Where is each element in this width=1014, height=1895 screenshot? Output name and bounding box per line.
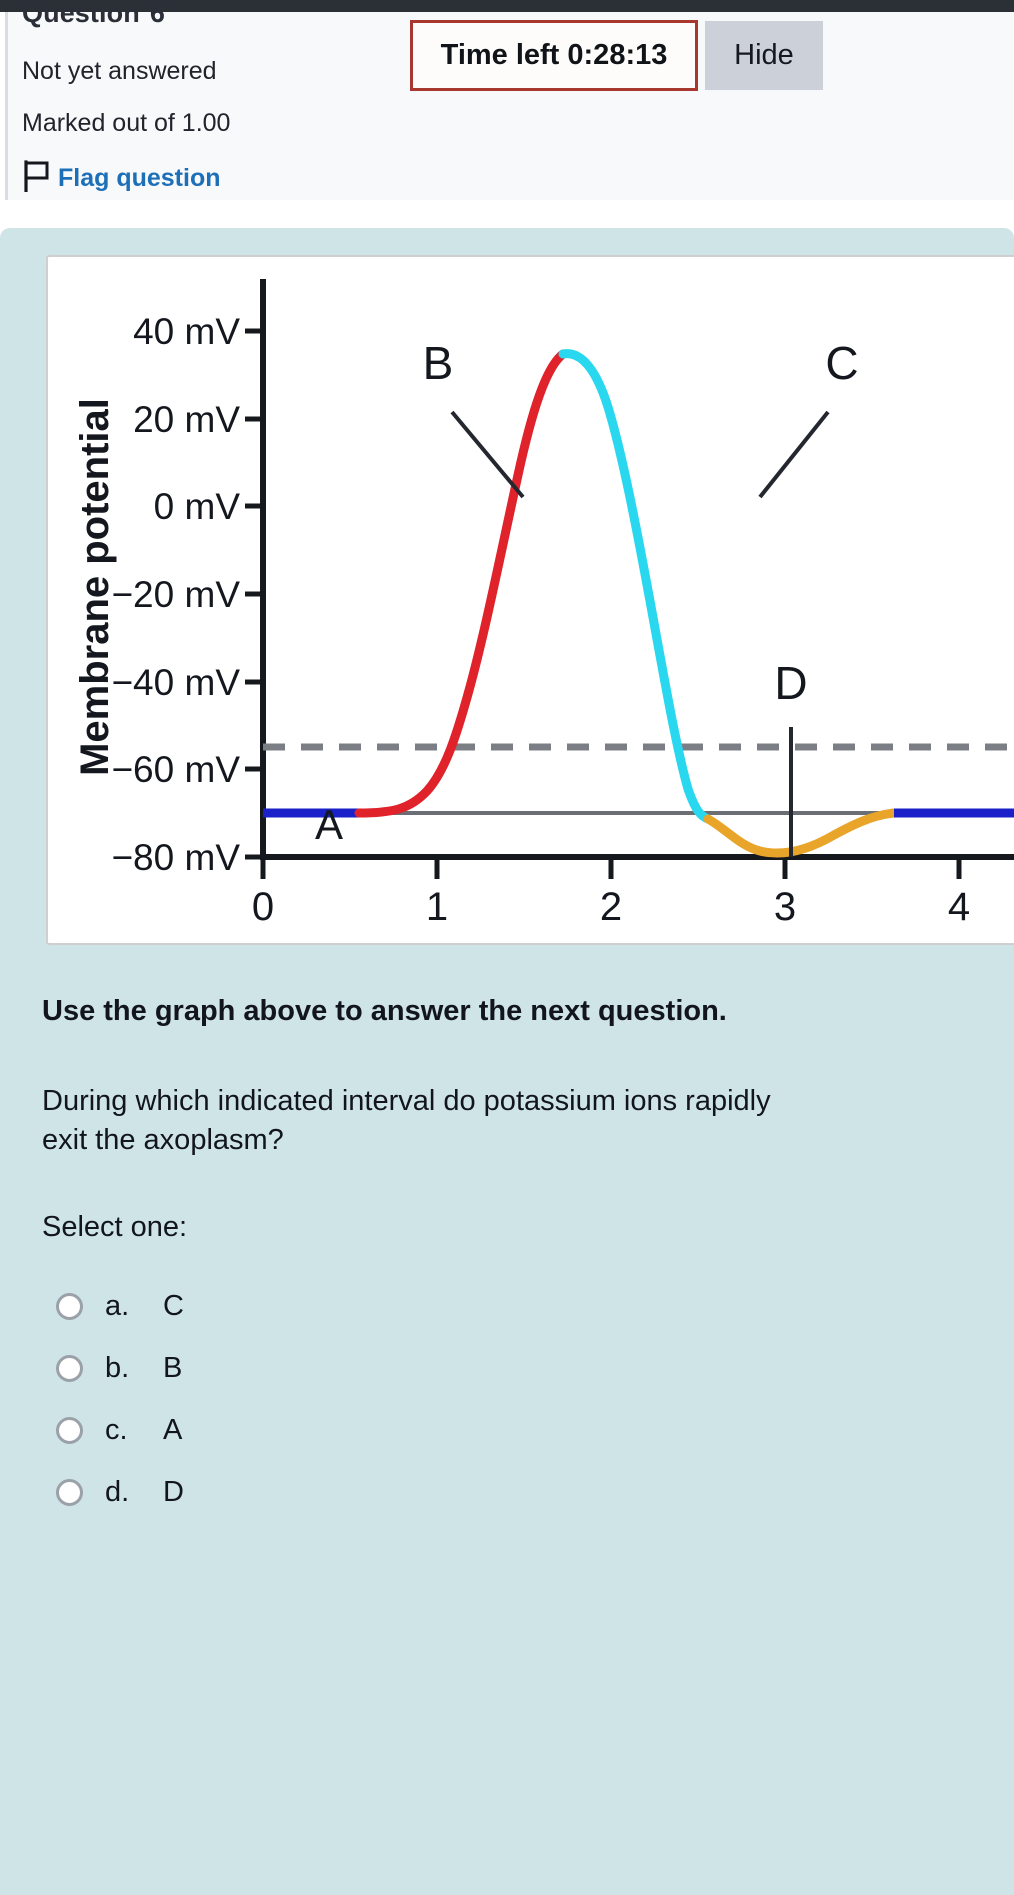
select-one-label: Select one: [42, 1211, 187, 1244]
question-marks: Marked out of 1.00 [22, 109, 230, 138]
chart-annotation-labels: A B C D [315, 337, 859, 848]
y-tick-label: −20 mV [111, 574, 240, 615]
x-tick-label: 1 [426, 885, 448, 929]
x-tick-label: 4 [948, 885, 970, 929]
radio-button-a[interactable] [56, 1293, 83, 1320]
option-letter-c: c. [105, 1414, 163, 1447]
hide-button-label: Hide [734, 39, 794, 72]
x-axis-tick-labels: 0 1 2 3 4 [252, 885, 970, 929]
x-tick-label: 0 [252, 885, 274, 929]
curve-segment-D-hyperpolarization [708, 813, 894, 853]
y-tick-label: 0 mV [154, 486, 241, 527]
leader-line-C [760, 412, 828, 497]
quiz-page: Question6 Not yet answered Marked out of… [0, 0, 1014, 1895]
option-row-a[interactable]: a. C [56, 1275, 556, 1337]
question-text: During which indicated interval do potas… [42, 1082, 802, 1160]
annotation-label-C: C [825, 337, 858, 389]
flag-question-link[interactable]: Flag question [22, 160, 221, 197]
option-value-a: C [163, 1290, 184, 1323]
option-letter-a: a. [105, 1290, 163, 1323]
question-state: Not yet answered [22, 57, 217, 86]
option-value-b: B [163, 1352, 182, 1385]
prompt-bold-line: Use the graph above to answer the next q… [42, 993, 742, 1031]
question-title-label: Question [22, 0, 140, 28]
question-number: 6 [150, 0, 165, 29]
radio-button-d[interactable] [56, 1479, 83, 1506]
option-value-d: D [163, 1476, 184, 1509]
annotation-label-B: B [423, 337, 454, 389]
x-tick-label: 3 [774, 885, 796, 929]
y-tick-label: −60 mV [111, 749, 240, 790]
option-row-c[interactable]: c. A [56, 1399, 556, 1461]
option-letter-d: d. [105, 1476, 163, 1509]
action-potential-chart: 40 mV 20 mV 0 mV −20 mV −40 mV −60 mV −8… [48, 257, 1014, 945]
timer-box: Time left 0:28:13 [410, 20, 698, 91]
y-tick-label: 20 mV [133, 399, 240, 440]
radio-button-c[interactable] [56, 1417, 83, 1444]
question-title: Question6 [22, 0, 165, 29]
radio-button-b[interactable] [56, 1355, 83, 1382]
answer-options: a. C b. B c. A d. D [56, 1275, 556, 1523]
action-potential-figure: 40 mV 20 mV 0 mV −20 mV −40 mV −60 mV −8… [46, 255, 1014, 945]
leader-line-B [452, 412, 523, 497]
x-axis-ticks [263, 857, 959, 879]
y-axis-tick-labels: 40 mV 20 mV 0 mV −20 mV −40 mV −60 mV −8… [111, 311, 240, 878]
annotation-label-D: D [774, 657, 807, 709]
annotation-label-A: A [315, 801, 343, 848]
time-left-text: Time left 0:28:13 [441, 39, 668, 72]
option-value-c: A [163, 1414, 182, 1447]
y-axis-title: Membrane potential [73, 398, 117, 776]
y-tick-label: −40 mV [111, 662, 240, 703]
x-tick-label: 2 [600, 885, 622, 929]
hide-timer-button[interactable]: Hide [705, 21, 823, 90]
option-row-d[interactable]: d. D [56, 1461, 556, 1523]
y-tick-label: 40 mV [133, 311, 240, 352]
option-row-b[interactable]: b. B [56, 1337, 556, 1399]
flag-icon [22, 160, 52, 197]
flag-question-label: Flag question [58, 164, 221, 193]
option-letter-b: b. [105, 1352, 163, 1385]
y-tick-label: −80 mV [111, 837, 240, 878]
